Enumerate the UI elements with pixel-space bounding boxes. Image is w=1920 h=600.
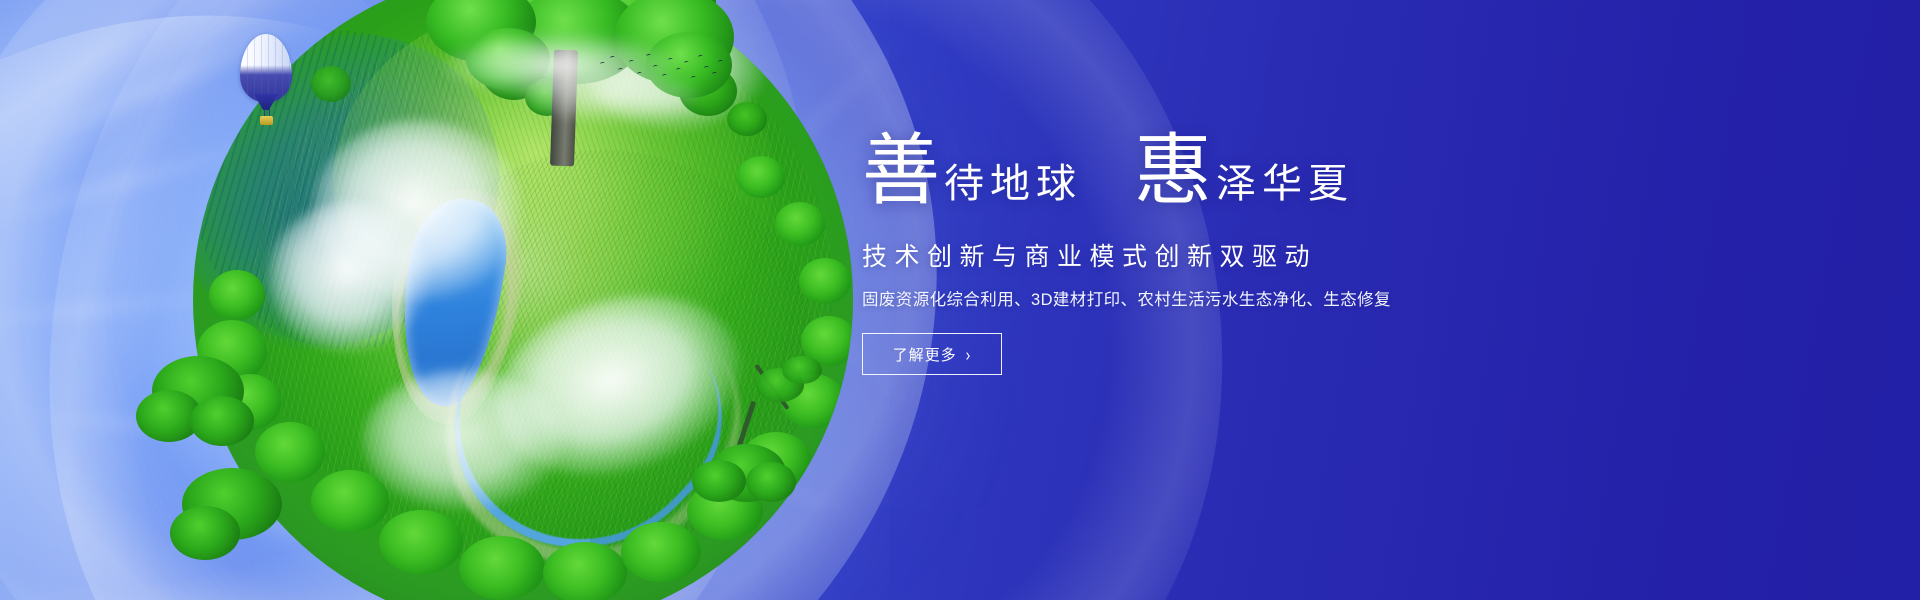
lake-shore <box>371 179 536 432</box>
globe-rim-foliage <box>687 482 763 540</box>
hero-banner: 善待地球惠泽华夏 技术创新与商业模式创新双驱动 固废资源化综合利用、3D建材打印… <box>0 0 1920 600</box>
headline-char-1: 善 <box>862 132 940 210</box>
globe-tree-canopy <box>311 66 351 102</box>
globe-rim-foliage <box>209 270 265 320</box>
hero-description: 固废资源化综合利用、3D建材打印、农村生活污水生态净化、生态修复 <box>862 289 1622 311</box>
globe-rim-foliage <box>219 374 281 430</box>
globe-rim-foliage <box>799 258 851 304</box>
globe-cloud <box>363 370 563 510</box>
globe-tree-canopy <box>525 78 569 116</box>
globe-tree-canopy <box>679 66 737 116</box>
globe-rim-foliage <box>781 374 845 428</box>
headline-char-2: 惠 <box>1134 132 1212 210</box>
page-title: 善待地球惠泽华夏 <box>862 132 1622 224</box>
headline-rest-1: 待地球 <box>944 164 1082 204</box>
globe-rim-foliage <box>459 536 545 600</box>
chevron-right-icon: › <box>966 345 972 363</box>
globe-rim-foliage <box>311 470 389 532</box>
globe-cloud <box>269 202 429 352</box>
globe-rim-foliage <box>621 522 701 582</box>
green-globe <box>193 0 853 600</box>
globe-rim-foliage <box>379 510 463 574</box>
globe-cloud <box>313 120 523 300</box>
globe-rim-foliage <box>737 156 785 198</box>
learn-more-label: 了解更多 <box>893 344 957 365</box>
lake <box>387 192 514 412</box>
globe-rim-foliage <box>775 202 825 246</box>
globe-rim-foliage <box>197 320 267 382</box>
globe-tree-canopy <box>451 0 499 38</box>
globe-rim-foliage <box>543 542 627 600</box>
hero-subtitle: 技术创新与商业模式创新双驱动 <box>862 242 1622 272</box>
globe-rim-foliage <box>741 432 811 488</box>
globe-rim-foliage <box>801 316 853 366</box>
globe-rim-foliage <box>255 422 325 482</box>
globe-cloud <box>473 266 763 505</box>
learn-more-button[interactable]: 了解更多 › <box>862 333 1002 375</box>
globe-meadow <box>333 0 773 360</box>
hero-copy: 善待地球惠泽华夏 技术创新与商业模式创新双驱动 固废资源化综合利用、3D建材打印… <box>862 132 1622 375</box>
globe-tree-canopy <box>727 102 767 136</box>
headline-rest-2: 泽华夏 <box>1216 164 1354 204</box>
